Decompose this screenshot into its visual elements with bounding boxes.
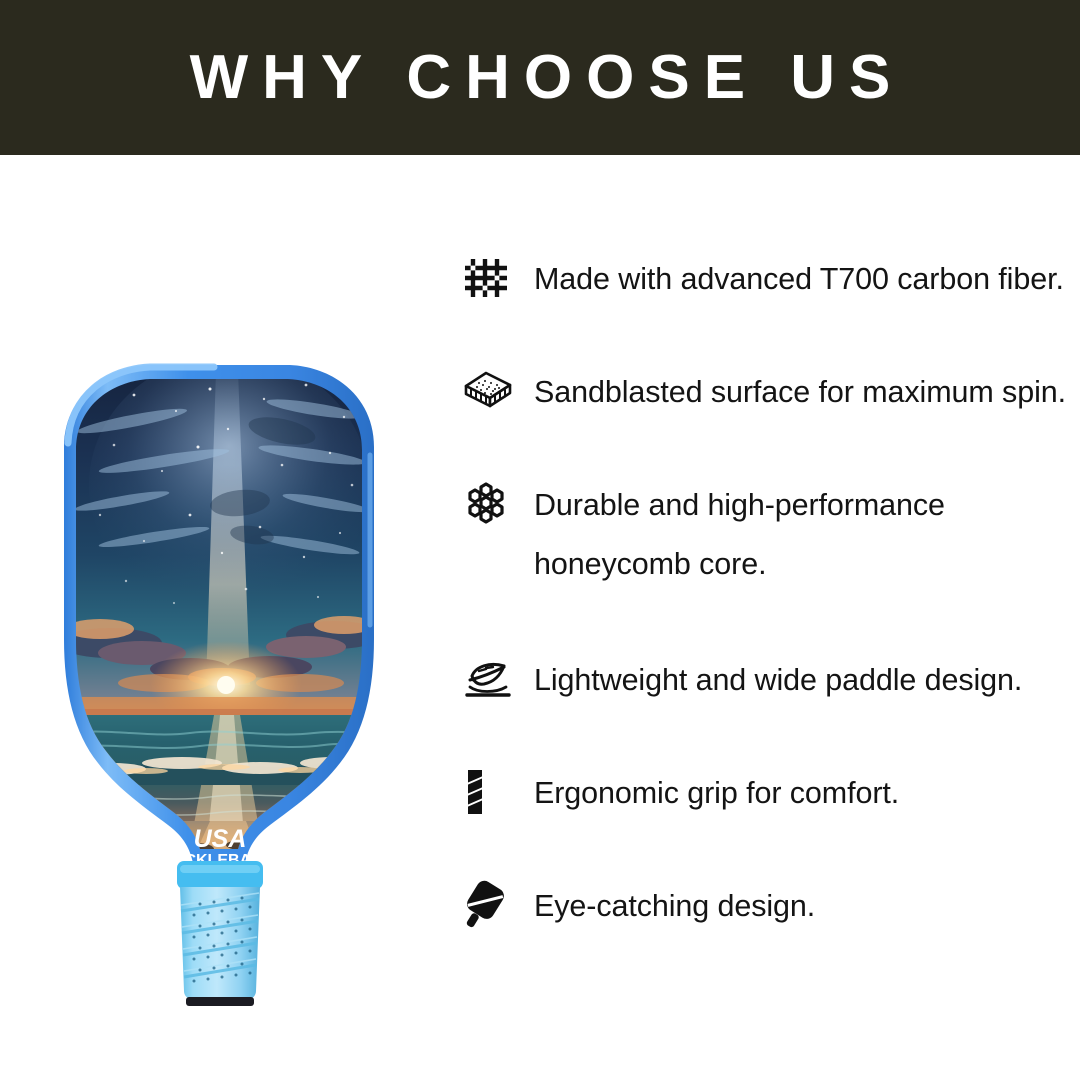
header-banner: WHY CHOOSE US — [0, 0, 1080, 155]
ergonomic-grip-icon — [462, 764, 534, 818]
paddle-handle-grip — [177, 861, 263, 1006]
paddle-face-artwork — [58, 355, 382, 875]
feature-item-label: Ergonomic grip for comfort. — [534, 764, 899, 823]
feature-list: Made with advanced T700 carbon fiber. — [462, 250, 1074, 990]
feature-item-ergonomic-grip: Ergonomic grip for comfort. — [462, 764, 1074, 823]
honeycomb-core-icon — [462, 476, 534, 530]
feature-item-label: Lightweight and wide paddle design. — [534, 651, 1022, 710]
feature-item-eye-catching-design: Eye-catching design. — [462, 877, 1074, 936]
feature-item-label: Eye-catching design. — [534, 877, 815, 936]
feature-item-honeycomb-core: Durable and high-performance honeycomb c… — [462, 476, 1074, 594]
feature-item-carbon-fiber: Made with advanced T700 carbon fiber. — [462, 250, 1074, 309]
feature-item-label: Made with advanced T700 carbon fiber. — [534, 250, 1064, 309]
badge-line-usa: USA — [194, 825, 247, 853]
feature-item-label: Sandblasted surface for maximum spin. — [534, 363, 1066, 422]
product-image-pickleball-paddle: USA PICKLEBALL APPROVED — [14, 185, 424, 1015]
paddle-silhouette-icon — [462, 877, 534, 931]
sandblasted-surface-icon — [462, 363, 534, 417]
page-title: WHY CHOOSE US — [176, 47, 905, 109]
feature-item-lightweight-design: Lightweight and wide paddle design. — [462, 651, 1074, 710]
feather-lightweight-icon — [462, 651, 534, 705]
why-choose-us-infographic: WHY CHOOSE US — [0, 0, 1080, 1080]
carbon-fiber-weave-icon — [462, 250, 534, 304]
feature-item-sandblasted-surface: Sandblasted surface for maximum spin. — [462, 363, 1074, 422]
feature-item-label: Durable and high-performance honeycomb c… — [534, 476, 945, 594]
